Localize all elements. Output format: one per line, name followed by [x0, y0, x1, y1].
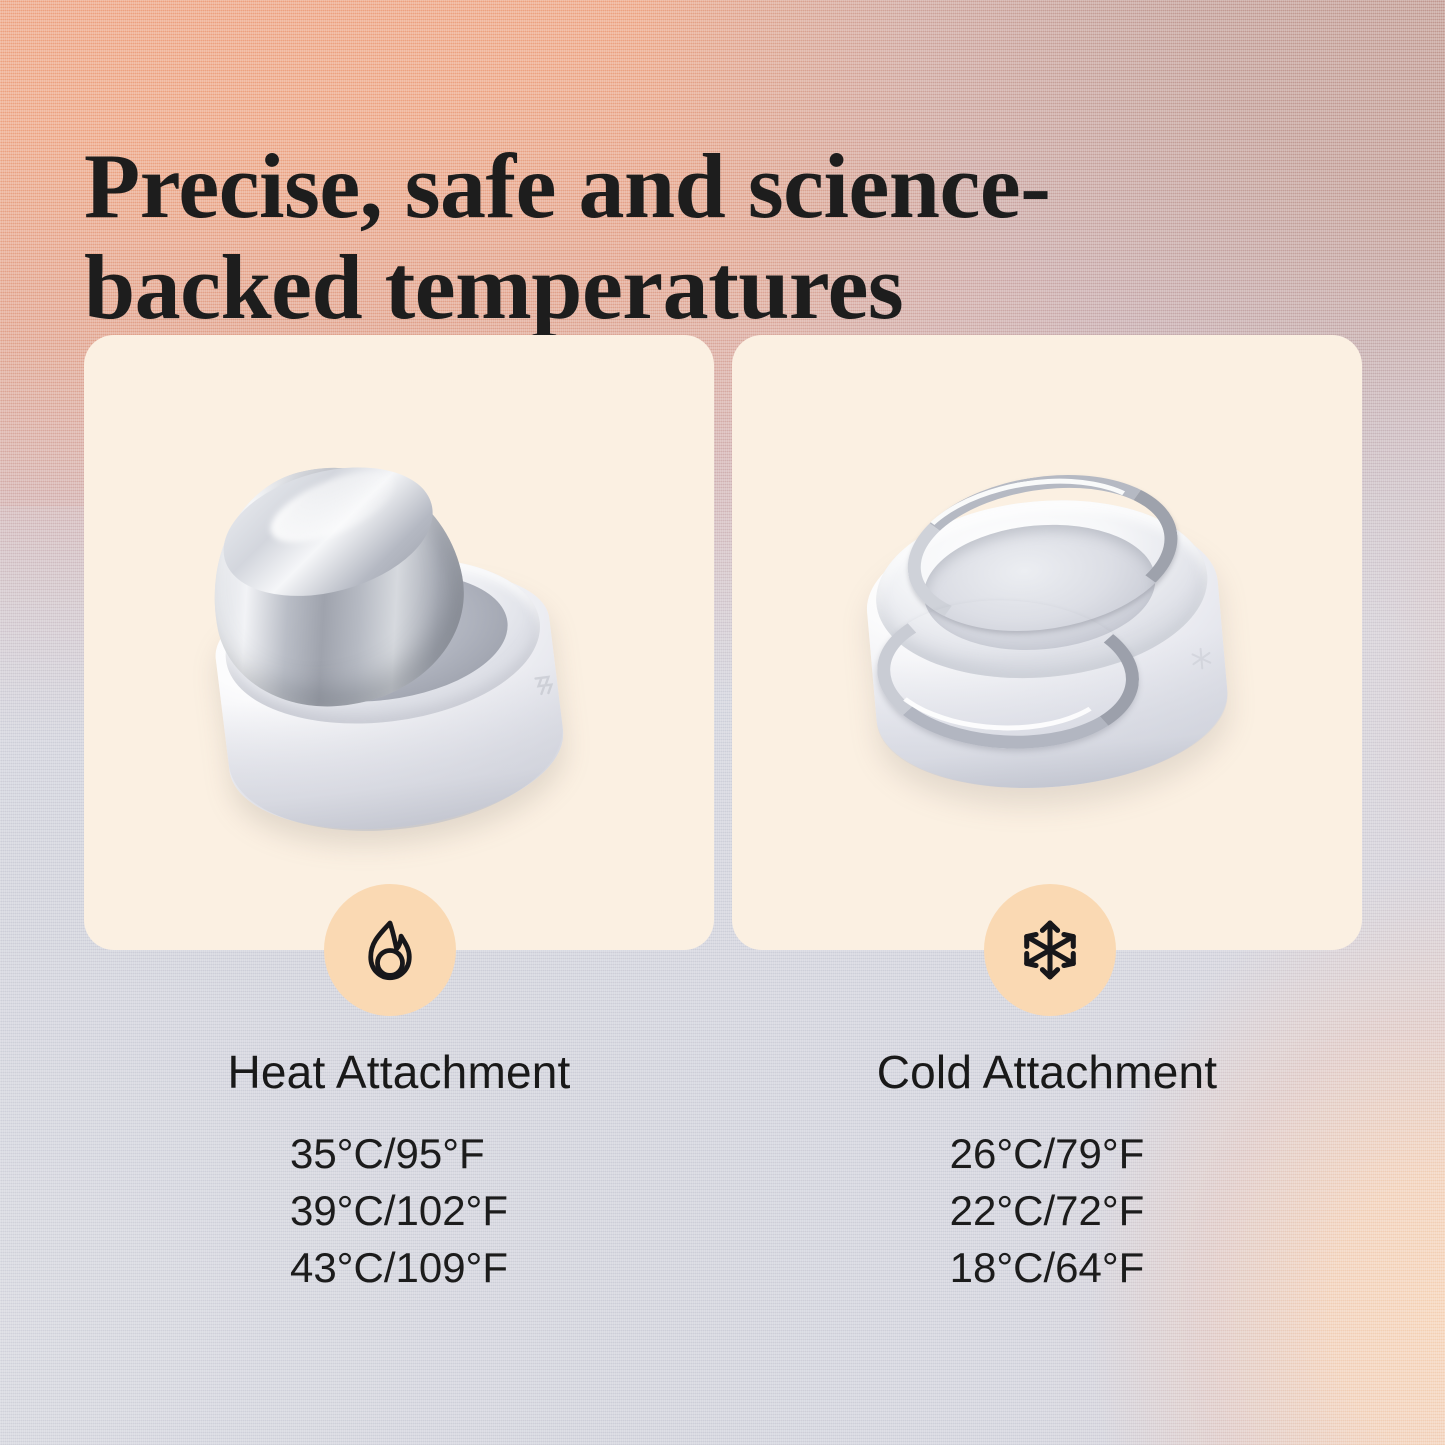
- cold-badge: [984, 884, 1116, 1016]
- heat-attachment-device: [158, 431, 624, 879]
- temperature-value: 39°C/102°F: [290, 1182, 508, 1239]
- temperature-value: 43°C/109°F: [290, 1239, 508, 1296]
- cold-attachment-device: [820, 431, 1273, 866]
- temperature-value: 22°C/72°F: [950, 1182, 1145, 1239]
- cold-attachment-title: Cold Attachment: [732, 1045, 1362, 1099]
- heat-badge: [324, 884, 456, 1016]
- cold-attachment-card: [732, 335, 1362, 950]
- heat-attachment-card: [84, 335, 714, 950]
- wave-logo-icon: [532, 673, 555, 697]
- cold-label-column: Cold Attachment 26°C/79°F 22°C/72°F 18°C…: [732, 1045, 1362, 1296]
- page-title: Precise, safe and science- backed temper…: [84, 136, 1084, 338]
- heat-attachment-title: Heat Attachment: [84, 1045, 714, 1099]
- promo-graphic: Precise, safe and science- backed temper…: [0, 0, 1445, 1445]
- snowflake-icon: [1012, 912, 1088, 988]
- flame-icon: [353, 913, 427, 987]
- attachment-card-row: [84, 335, 1362, 950]
- temperature-value: 26°C/79°F: [950, 1125, 1145, 1182]
- temperature-value: 35°C/95°F: [290, 1125, 508, 1182]
- heat-temperature-list: 35°C/95°F 39°C/102°F 43°C/109°F: [290, 1125, 508, 1296]
- snowflake-logo-icon: [1187, 644, 1215, 672]
- attachment-label-row: Heat Attachment 35°C/95°F 39°C/102°F 43°…: [84, 1045, 1362, 1296]
- heat-label-column: Heat Attachment 35°C/95°F 39°C/102°F 43°…: [84, 1045, 714, 1296]
- cold-temperature-list: 26°C/79°F 22°C/72°F 18°C/64°F: [950, 1125, 1145, 1296]
- temperature-value: 18°C/64°F: [950, 1239, 1145, 1296]
